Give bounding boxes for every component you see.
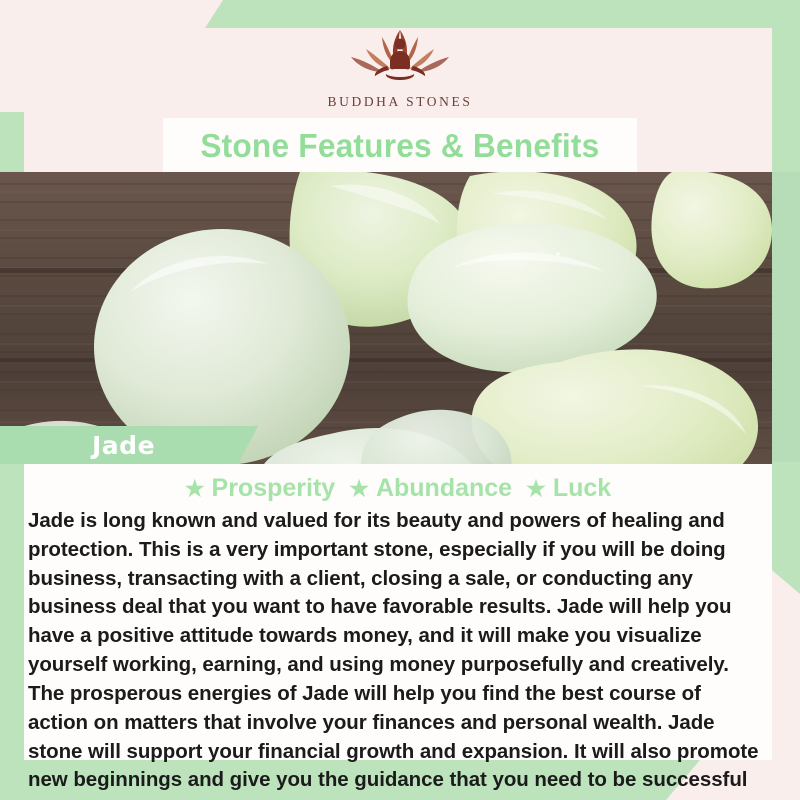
content-panel: ★ Prosperity ★ Abundance ★ Luck Jade is … — [24, 464, 772, 760]
keyword-label: Prosperity — [212, 474, 336, 503]
decor-right-photo-strip — [772, 172, 800, 464]
title-banner: Stone Features & Benefits — [163, 118, 637, 173]
poster-root: BUDDHA STONES Stone Features & Benefits — [0, 0, 800, 800]
star-icon: ★ — [185, 478, 205, 500]
star-icon: ★ — [526, 478, 546, 500]
keyword-item-abundance: ★ Abundance — [349, 474, 512, 503]
keyword-label: Luck — [553, 474, 611, 503]
stone-name: Jade — [92, 431, 155, 460]
star-icon: ★ — [349, 478, 369, 500]
decor-right-lower-wedge — [772, 462, 800, 594]
keyword-list: ★ Prosperity ★ Abundance ★ Luck — [24, 464, 772, 503]
keyword-item-luck: ★ Luck — [526, 474, 611, 503]
keyword-item-prosperity: ★ Prosperity — [185, 474, 335, 503]
jade-stones-image — [0, 172, 772, 464]
brand-name: BUDDHA STONES — [328, 94, 473, 110]
stone-photo — [0, 172, 772, 464]
brand-logo: BUDDHA STONES — [0, 24, 800, 116]
keyword-label: Abundance — [376, 474, 512, 503]
description-text: Jade is long known and valued for its be… — [24, 507, 768, 800]
page-title: Stone Features & Benefits — [200, 127, 599, 165]
stone-name-band: Jade — [0, 426, 258, 464]
lotus-meditation-icon — [325, 24, 475, 90]
